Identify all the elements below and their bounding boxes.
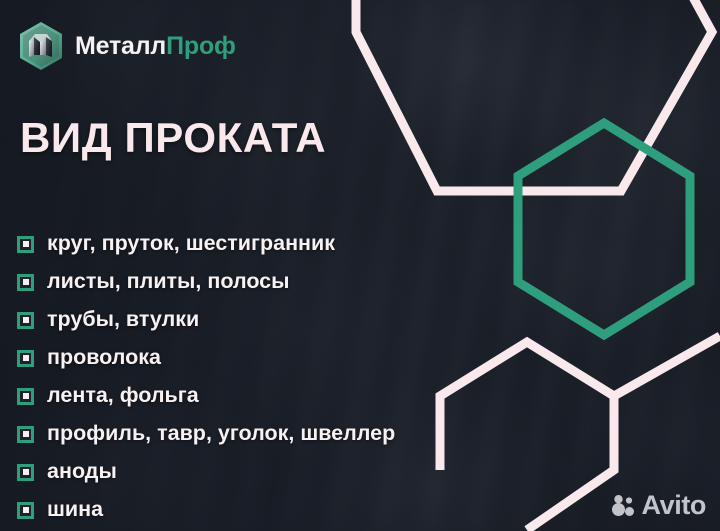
- list-item: лента, фольга: [17, 377, 395, 415]
- hexagon-metal-logo-icon: [18, 21, 64, 71]
- promo-banner: МеталлПроф ВИД ПРОКАТА круг, пруток, шес…: [0, 0, 720, 531]
- brand-logo: МеталлПроф: [18, 21, 236, 71]
- avito-watermark: Avito: [612, 492, 707, 519]
- list-item: проволока: [17, 339, 395, 377]
- hex-outline-right-cream-icon: [614, 336, 720, 396]
- list-item-label: лента, фольга: [47, 385, 199, 407]
- list-item: профиль, тавр, уголок, швеллер: [17, 415, 395, 453]
- brand-wordmark: МеталлПроф: [75, 34, 236, 59]
- list-item-label: круг, пруток, шестигранник: [47, 233, 335, 255]
- list-item: листы, плиты, полосы: [17, 263, 395, 301]
- list-item-label: трубы, втулки: [47, 309, 199, 331]
- list-item-label: шина: [47, 499, 103, 521]
- bullet-square-icon: [17, 274, 34, 291]
- brand-name-primary: Металл: [75, 32, 166, 60]
- list-item: круг, пруток, шестигранник: [17, 225, 395, 263]
- bullet-square-icon: [17, 426, 34, 443]
- product-list: круг, пруток, шестигранник листы, плиты,…: [17, 225, 395, 529]
- hex-outline-middle-teal-icon: [518, 123, 690, 335]
- bullet-square-icon: [17, 350, 34, 367]
- page-title: ВИД ПРОКАТА: [20, 117, 326, 159]
- bullet-square-icon: [17, 236, 34, 253]
- list-item: аноды: [17, 453, 395, 491]
- bullet-square-icon: [17, 464, 34, 481]
- list-item-label: аноды: [47, 461, 117, 483]
- bullet-square-icon: [17, 312, 34, 329]
- avito-wordmark: Avito: [642, 492, 707, 519]
- bullet-square-icon: [17, 388, 34, 405]
- bullet-square-icon: [17, 502, 34, 519]
- brand-name-secondary: Проф: [166, 32, 236, 60]
- list-item-label: профиль, тавр, уголок, швеллер: [47, 423, 395, 445]
- avito-dots-icon: [612, 495, 636, 517]
- list-item: шина: [17, 491, 395, 529]
- list-item-label: проволока: [47, 347, 161, 369]
- list-item-label: листы, плиты, полосы: [47, 271, 290, 293]
- hex-outline-bottom-cream-icon: [440, 342, 614, 530]
- list-item: трубы, втулки: [17, 301, 395, 339]
